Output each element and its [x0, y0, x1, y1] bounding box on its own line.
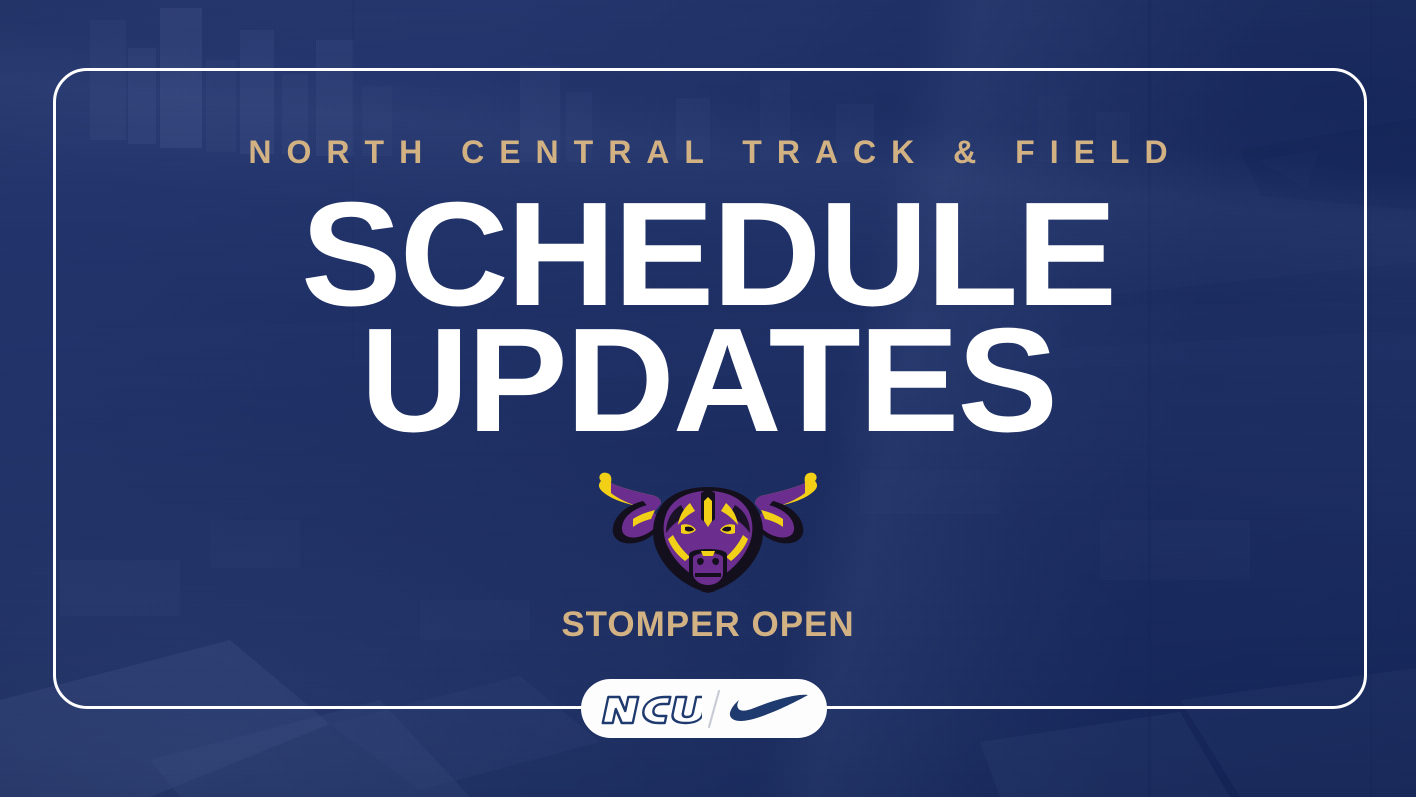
lockup-divider-icon: [702, 687, 726, 731]
content-container: NORTH CENTRAL TRACK & FIELD SCHEDULE UPD…: [0, 0, 1416, 797]
headline-line-2: UPDATES: [360, 322, 1056, 440]
graphic-canvas: NORTH CENTRAL TRACK & FIELD SCHEDULE UPD…: [0, 0, 1416, 797]
eyebrow-text: NORTH CENTRAL TRACK & FIELD: [233, 136, 1182, 168]
nike-swoosh-icon: [728, 693, 810, 725]
headline-line-1: SCHEDULE: [301, 196, 1115, 314]
bull-mascot-icon: [593, 459, 823, 599]
brand-lockup-pill: [581, 679, 827, 738]
ncu-wordmark-icon: [598, 689, 702, 729]
event-name-text: STOMPER OPEN: [561, 607, 854, 642]
